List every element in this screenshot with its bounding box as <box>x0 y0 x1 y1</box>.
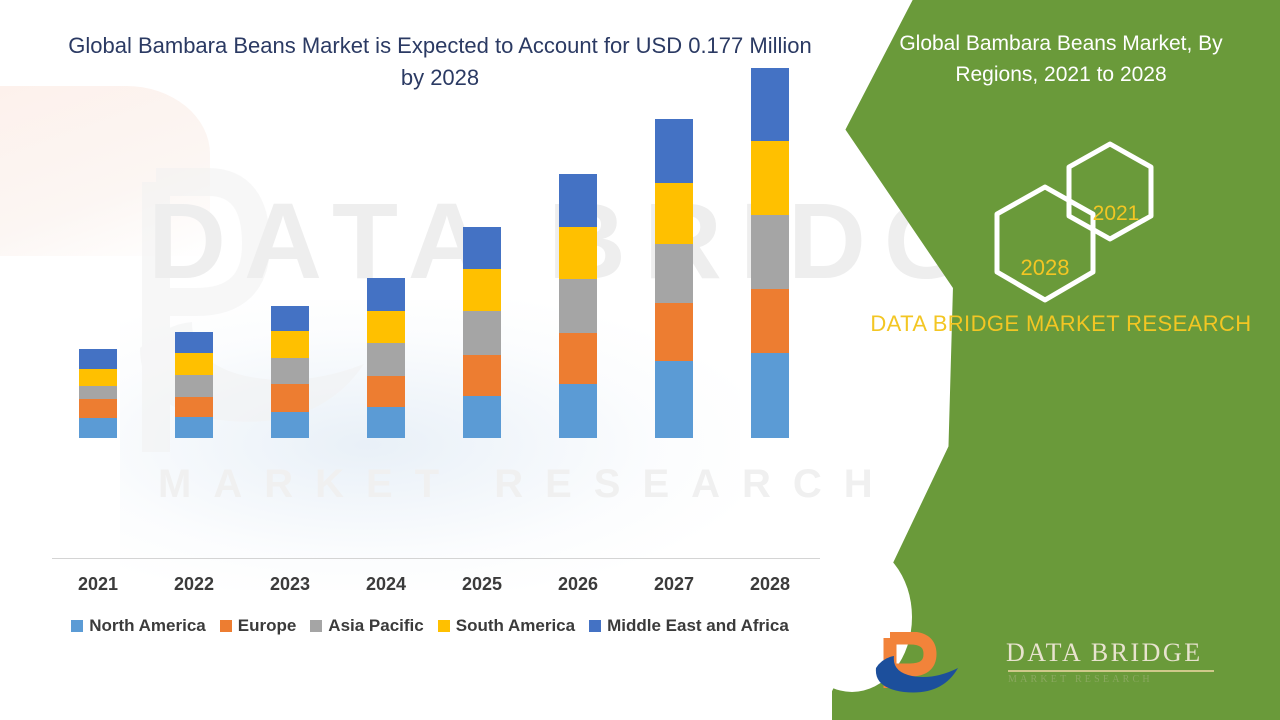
bar-segment[interactable] <box>79 349 117 369</box>
data-bridge-logo-icon <box>866 632 996 696</box>
legend-label: South America <box>456 616 575 636</box>
bar-column-2028[interactable] <box>751 68 789 438</box>
legend-label: Middle East and Africa <box>607 616 789 636</box>
bar-segment[interactable] <box>175 375 213 397</box>
legend-item[interactable]: North America <box>71 616 206 636</box>
legend-label: Europe <box>238 616 297 636</box>
bar-segment[interactable] <box>271 331 309 358</box>
bar-segment[interactable] <box>79 399 117 418</box>
bar-column-2025[interactable] <box>463 227 501 438</box>
logo-wordmark: DATA BRIDGE <box>1006 638 1203 668</box>
bar-segment[interactable] <box>559 384 597 438</box>
bar-segment[interactable] <box>175 332 213 353</box>
bar-segment[interactable] <box>271 384 309 412</box>
bar-segment[interactable] <box>367 376 405 407</box>
panel-title: Global Bambara Beans Market, By Regions,… <box>856 28 1266 90</box>
bar-segment[interactable] <box>751 215 789 289</box>
bar-segment[interactable] <box>367 311 405 343</box>
bar-segment[interactable] <box>175 397 213 417</box>
bar-segment[interactable] <box>751 289 789 353</box>
bar-segment[interactable] <box>463 269 501 311</box>
hexagon-2021-label: 2021 <box>1070 202 1162 226</box>
x-axis-label-2028: 2028 <box>725 574 815 595</box>
legend-label: North America <box>89 616 206 636</box>
x-axis-label-2021: 2021 <box>53 574 143 595</box>
x-axis-label-2023: 2023 <box>245 574 335 595</box>
bar-segment[interactable] <box>751 141 789 215</box>
bar-segment[interactable] <box>367 407 405 438</box>
bar-segment[interactable] <box>79 369 117 386</box>
bar-segment[interactable] <box>463 311 501 355</box>
bar-segment[interactable] <box>271 306 309 331</box>
bar-segment[interactable] <box>655 119 693 183</box>
hexagon-2028-label: 2028 <box>990 255 1100 281</box>
bar-segment[interactable] <box>559 279 597 333</box>
bar-segment[interactable] <box>559 227 597 279</box>
bar-segment[interactable] <box>175 417 213 438</box>
bar-segment[interactable] <box>655 244 693 303</box>
bar-segment[interactable] <box>655 361 693 438</box>
brand-name: DATA BRIDGE MARKET RESEARCH <box>856 308 1266 340</box>
legend-swatch-icon <box>589 620 601 632</box>
bar-segment[interactable] <box>367 343 405 376</box>
bar-segment[interactable] <box>175 353 213 375</box>
bar-column-2027[interactable] <box>655 119 693 438</box>
legend-swatch-icon <box>220 620 232 632</box>
x-axis-label-2024: 2024 <box>341 574 431 595</box>
legend-label: Asia Pacific <box>328 616 423 636</box>
bar-column-2021[interactable] <box>79 349 117 438</box>
bar-segment[interactable] <box>367 278 405 311</box>
legend-item[interactable]: Europe <box>220 616 297 636</box>
bar-segment[interactable] <box>271 412 309 438</box>
bar-segment[interactable] <box>751 353 789 438</box>
bar-segment[interactable] <box>655 303 693 361</box>
bar-segment[interactable] <box>79 386 117 399</box>
bar-segment[interactable] <box>655 183 693 244</box>
bar-segment[interactable] <box>463 355 501 396</box>
legend-item[interactable]: Asia Pacific <box>310 616 423 636</box>
bar-segment[interactable] <box>559 174 597 227</box>
x-axis-label-2025: 2025 <box>437 574 527 595</box>
legend-swatch-icon <box>71 620 83 632</box>
chart-legend: North AmericaEuropeAsia PacificSouth Ame… <box>0 616 860 636</box>
bar-segment[interactable] <box>463 227 501 269</box>
logo-tagline: MARKET RESEARCH <box>1008 674 1218 685</box>
bar-column-2024[interactable] <box>367 278 405 438</box>
hexagon-2021-icon <box>1064 140 1156 244</box>
x-axis-label-2026: 2026 <box>533 574 623 595</box>
bar-segment[interactable] <box>463 396 501 438</box>
legend-item[interactable]: South America <box>438 616 575 636</box>
bar-segment[interactable] <box>79 418 117 438</box>
company-logo: DATA BRIDGE MARKET RESEARCH <box>866 632 1246 696</box>
x-axis-label-2022: 2022 <box>149 574 239 595</box>
bar-column-2022[interactable] <box>175 332 213 438</box>
stacked-bar-chart: 20212022202320242025202620272028 <box>0 0 860 600</box>
chart-panel: Global Bambara Beans Market is Expected … <box>0 0 900 720</box>
bar-segment[interactable] <box>559 333 597 384</box>
legend-item[interactable]: Middle East and Africa <box>589 616 789 636</box>
bar-segment[interactable] <box>271 358 309 384</box>
legend-swatch-icon <box>310 620 322 632</box>
infographic-canvas: DATA BRIDGE MARKET RESEARCH Global Bamba… <box>0 0 1280 720</box>
bar-column-2026[interactable] <box>559 174 597 438</box>
brand-panel: Global Bambara Beans Market, By Regions,… <box>832 0 1280 720</box>
x-axis-line <box>52 558 820 559</box>
bar-column-2023[interactable] <box>271 306 309 438</box>
bar-segment[interactable] <box>751 68 789 141</box>
hexagon-badges: 2021 2028 <box>832 140 1280 300</box>
x-axis-label-2027: 2027 <box>629 574 719 595</box>
legend-swatch-icon <box>438 620 450 632</box>
logo-divider <box>1008 670 1214 672</box>
